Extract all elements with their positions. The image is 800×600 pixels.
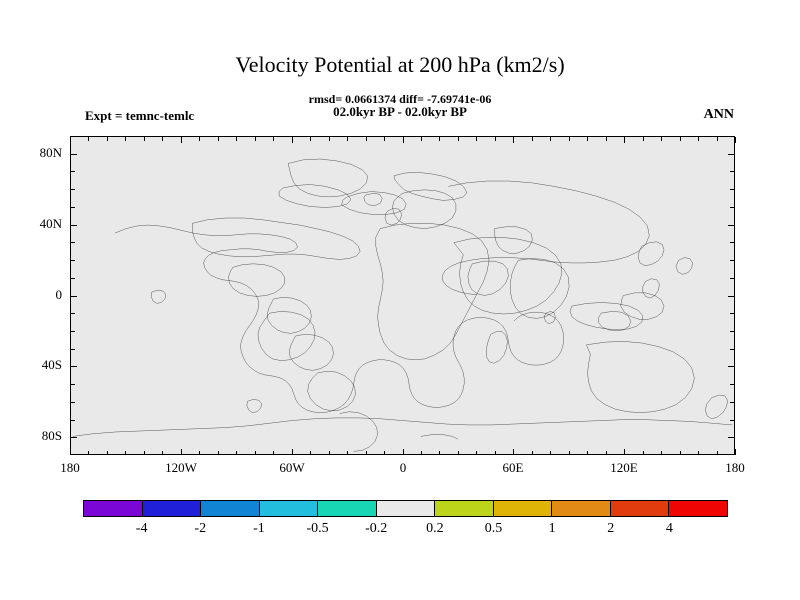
x-axis-tick-major [513, 449, 514, 455]
x-axis-tick-minor [680, 451, 681, 455]
colorbar-band [143, 501, 202, 516]
y-axis-tick-minor-right [730, 331, 734, 332]
x-axis-tick-minor [495, 451, 496, 455]
y-axis-tick-minor-right [730, 207, 734, 208]
colorbar-band [201, 501, 260, 516]
coastline-paths [73, 159, 732, 451]
x-axis-tick-major [624, 449, 625, 455]
x-axis-tick-minor-top [717, 137, 718, 141]
colorbar-tick-label: 0.5 [463, 521, 523, 537]
y-axis-tick-minor [71, 171, 75, 172]
x-axis-tick-minor-top [458, 137, 459, 141]
y-axis-tick-minor-right [730, 242, 734, 243]
x-axis-tick-minor-top [439, 137, 440, 141]
x-axis-label: 0 [368, 460, 438, 476]
x-axis-tick-minor-top [199, 137, 200, 141]
colorbar-tick-label: 0.2 [405, 521, 465, 537]
x-axis-tick-minor-top [144, 137, 145, 141]
y-axis-label: 80S [2, 428, 62, 444]
colorbar-tick-label: -1 [229, 521, 289, 537]
x-axis-tick-minor [717, 451, 718, 455]
x-axis-tick-minor [347, 451, 348, 455]
x-axis-tick-minor-top [661, 137, 662, 141]
x-axis-tick-minor [439, 451, 440, 455]
x-axis-tick-minor-top [329, 137, 330, 141]
y-axis-tick-major-right [728, 437, 734, 438]
colorbar-tick-label: -4 [112, 521, 172, 537]
x-axis-tick-minor [218, 451, 219, 455]
x-axis-tick-minor-top [218, 137, 219, 141]
y-axis-tick-minor [71, 384, 75, 385]
colorbar [83, 500, 728, 517]
y-axis-tick-minor-right [730, 313, 734, 314]
x-axis-label: 180 [35, 460, 105, 476]
x-axis-tick-minor-top [125, 137, 126, 141]
x-axis-tick-minor [273, 451, 274, 455]
x-axis-tick-minor-top [495, 137, 496, 141]
y-axis-tick-minor [71, 331, 75, 332]
y-axis-label: 80N [2, 145, 62, 161]
x-axis-tick-major-top [181, 137, 182, 143]
y-axis-tick-minor-right [730, 171, 734, 172]
x-axis-tick-minor-top [347, 137, 348, 141]
x-axis-tick-minor [384, 451, 385, 455]
figure-canvas: Velocity Potential at 200 hPa (km2/s) rm… [0, 0, 800, 600]
x-axis-tick-minor-top [107, 137, 108, 141]
x-axis-tick-minor [199, 451, 200, 455]
x-axis-tick-minor-top [162, 137, 163, 141]
colorbar-band [84, 501, 143, 516]
y-axis-tick-minor [71, 349, 75, 350]
y-axis-tick-minor [71, 242, 75, 243]
x-axis-tick-minor-top [698, 137, 699, 141]
x-axis-tick-minor [643, 451, 644, 455]
x-axis-label: 60E [478, 460, 548, 476]
y-axis-tick-major [71, 154, 77, 155]
x-axis-tick-minor [107, 451, 108, 455]
x-axis-tick-minor [162, 451, 163, 455]
x-axis-tick-minor-top [88, 137, 89, 141]
x-axis-tick-minor [255, 451, 256, 455]
x-axis-tick-minor [144, 451, 145, 455]
x-axis-tick-minor-top [421, 137, 422, 141]
y-axis-label: 40N [2, 216, 62, 232]
y-axis-tick-minor [71, 189, 75, 190]
y-axis-tick-major [71, 437, 77, 438]
x-axis-tick-minor [310, 451, 311, 455]
y-axis-tick-major-right [728, 366, 734, 367]
x-axis-tick-major [181, 449, 182, 455]
colorbar-band [377, 501, 436, 516]
map-plot-area [70, 136, 735, 455]
x-axis-tick-minor [550, 451, 551, 455]
x-axis-tick-minor-top [255, 137, 256, 141]
x-axis-tick-minor [458, 451, 459, 455]
x-axis-tick-minor [476, 451, 477, 455]
y-axis-tick-major [71, 296, 77, 297]
colorbar-tick-label: 2 [581, 521, 641, 537]
x-axis-tick-minor [125, 451, 126, 455]
x-axis-tick-minor-top [569, 137, 570, 141]
x-axis-tick-minor [661, 451, 662, 455]
x-axis-label: 120W [146, 460, 216, 476]
x-axis-tick-major-top [624, 137, 625, 143]
x-axis-tick-minor [421, 451, 422, 455]
y-axis-tick-major-right [728, 154, 734, 155]
x-axis-tick-major [403, 449, 404, 455]
x-axis-tick-minor [88, 451, 89, 455]
x-axis-tick-minor-top [273, 137, 274, 141]
colorbar-band [260, 501, 319, 516]
y-axis-tick-major [71, 225, 77, 226]
x-axis-tick-minor [366, 451, 367, 455]
x-axis-tick-minor-top [310, 137, 311, 141]
y-axis-tick-minor-right [730, 278, 734, 279]
colorbar-tick-label: 1 [522, 521, 582, 537]
x-axis-tick-major-top [292, 137, 293, 143]
x-axis-tick-major-top [403, 137, 404, 143]
y-axis-tick-minor-right [730, 402, 734, 403]
colorbar-tick-label: -2 [170, 521, 230, 537]
colorbar-tick-label: 4 [639, 521, 699, 537]
x-axis-tick-major-top [513, 137, 514, 143]
colorbar-band [318, 501, 377, 516]
y-axis-tick-major [71, 366, 77, 367]
x-axis-label: 120E [589, 460, 659, 476]
y-axis-tick-major-right [728, 296, 734, 297]
x-axis-tick-minor [698, 451, 699, 455]
x-axis-tick-major [292, 449, 293, 455]
x-axis-label: 180 [700, 460, 770, 476]
colorbar-band [611, 501, 670, 516]
x-axis-tick-minor-top [550, 137, 551, 141]
x-axis-tick-major-top [735, 137, 736, 143]
x-axis-tick-minor-top [476, 137, 477, 141]
x-axis-tick-minor-top [236, 137, 237, 141]
colorbar-band [552, 501, 611, 516]
y-axis-tick-major-right [728, 225, 734, 226]
y-axis-tick-minor-right [730, 384, 734, 385]
x-axis-tick-minor-top [384, 137, 385, 141]
colorbar-band [435, 501, 494, 516]
y-axis-tick-minor [71, 260, 75, 261]
experiment-label: Expt = temnc-temlc [85, 108, 194, 124]
y-axis-label: 0 [2, 287, 62, 303]
y-axis-tick-minor-right [730, 349, 734, 350]
x-axis-tick-minor-top [532, 137, 533, 141]
y-axis-tick-minor [71, 278, 75, 279]
x-axis-tick-minor [606, 451, 607, 455]
y-axis-tick-minor-right [730, 420, 734, 421]
colorbar-band [494, 501, 553, 516]
x-axis-label: 60W [257, 460, 327, 476]
y-axis-label: 40S [2, 357, 62, 373]
x-axis-tick-minor [236, 451, 237, 455]
x-axis-tick-minor-top [366, 137, 367, 141]
colorbar-tick-label: -0.5 [288, 521, 348, 537]
x-axis-tick-minor-top [587, 137, 588, 141]
y-axis-tick-minor-right [730, 260, 734, 261]
season-label: ANN [704, 107, 734, 123]
x-axis-tick-minor [569, 451, 570, 455]
x-axis-tick-minor-top [606, 137, 607, 141]
y-axis-tick-minor [71, 402, 75, 403]
page-title: Velocity Potential at 200 hPa (km2/s) [0, 52, 800, 78]
x-axis-tick-minor-top [643, 137, 644, 141]
y-axis-tick-minor [71, 313, 75, 314]
y-axis-tick-minor [71, 420, 75, 421]
x-axis-tick-major [735, 449, 736, 455]
colorbar-band [669, 501, 727, 516]
x-axis-tick-minor-top [680, 137, 681, 141]
x-axis-tick-minor [329, 451, 330, 455]
x-axis-tick-major-top [70, 137, 71, 143]
x-axis-tick-minor [587, 451, 588, 455]
x-axis-tick-minor [532, 451, 533, 455]
y-axis-tick-minor [71, 207, 75, 208]
colorbar-tick-label: -0.2 [346, 521, 406, 537]
world-coastlines-map [71, 137, 734, 454]
y-axis-tick-minor-right [730, 189, 734, 190]
x-axis-tick-major [70, 449, 71, 455]
